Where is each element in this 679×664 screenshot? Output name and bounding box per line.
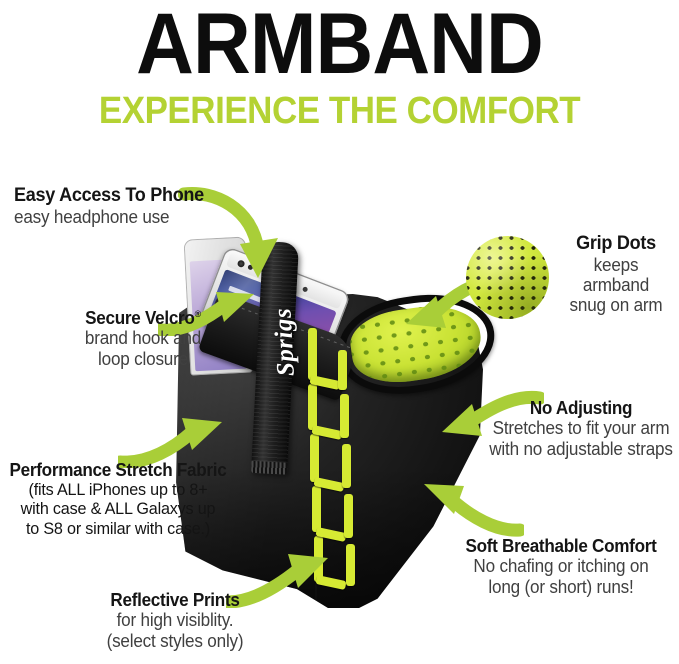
page-title: ARMBAND [24,4,655,86]
page-subtitle: EXPERIENCE THE COMFORT [27,92,652,130]
callout-secure-velcro-heading: Secure Velcro® [53,309,234,328]
callout-no-adjusting: No Adjusting Stretches to fit your arm w… [483,399,679,459]
callout-no-adjusting-heading: No Adjusting [488,399,674,418]
callout-reflective-prints-heading: Reflective Prints [77,591,273,610]
callout-soft-comfort-heading: Soft Breathable Comfort [451,537,671,556]
callout-performance-fabric: Performance Stretch Fabric (fits ALL iPh… [2,461,234,538]
callout-soft-comfort: Soft Breathable Comfort No chafing or it… [445,537,677,597]
infographic-page: ARMBAND EXPERIENCE THE COMFORT [0,0,679,664]
callout-easy-access: Easy Access To Phone easy headphone use [14,186,224,227]
callout-grip-dots-body: keeps armband snug on arm [559,255,673,315]
grip-dots-shading [466,236,549,319]
product-photo: Sprigs [163,236,493,608]
callout-no-adjusting-body: Stretches to fit your arm with no adjust… [488,418,674,458]
callout-grip-dots: Grip Dots keeps armband snug on arm [556,234,676,315]
callout-performance-fabric-heading: Performance Stretch Fabric [8,461,228,480]
brand-logo: Sprigs [269,307,301,377]
callout-reflective-prints: Reflective Prints for high visiblity. (s… [72,591,278,651]
callout-secure-velcro-body: brand hook and loop closure [53,328,234,368]
callout-reflective-prints-body: for high visiblity. (select styles only) [77,610,273,650]
grip-dots-swatch [466,236,549,319]
callout-grip-dots-heading: Grip Dots [559,234,673,255]
callout-performance-fabric-body: (fits ALL iPhones up to 8+ with case & A… [8,480,228,537]
strap-end-tip [251,461,288,475]
callout-easy-access-heading: Easy Access To Phone [14,186,214,207]
callout-easy-access-body: easy headphone use [14,207,214,227]
title-block: ARMBAND EXPERIENCE THE COMFORT [0,4,679,130]
reflective-print-strip [306,328,396,596]
callout-secure-velcro: Secure Velcro® brand hook and loop closu… [48,309,238,369]
callout-secure-velcro-heading-text: Secure Velcro [85,308,194,328]
callout-soft-comfort-body: No chafing or itching on long (or short)… [451,556,671,596]
registered-trademark-icon: ® [195,309,201,319]
